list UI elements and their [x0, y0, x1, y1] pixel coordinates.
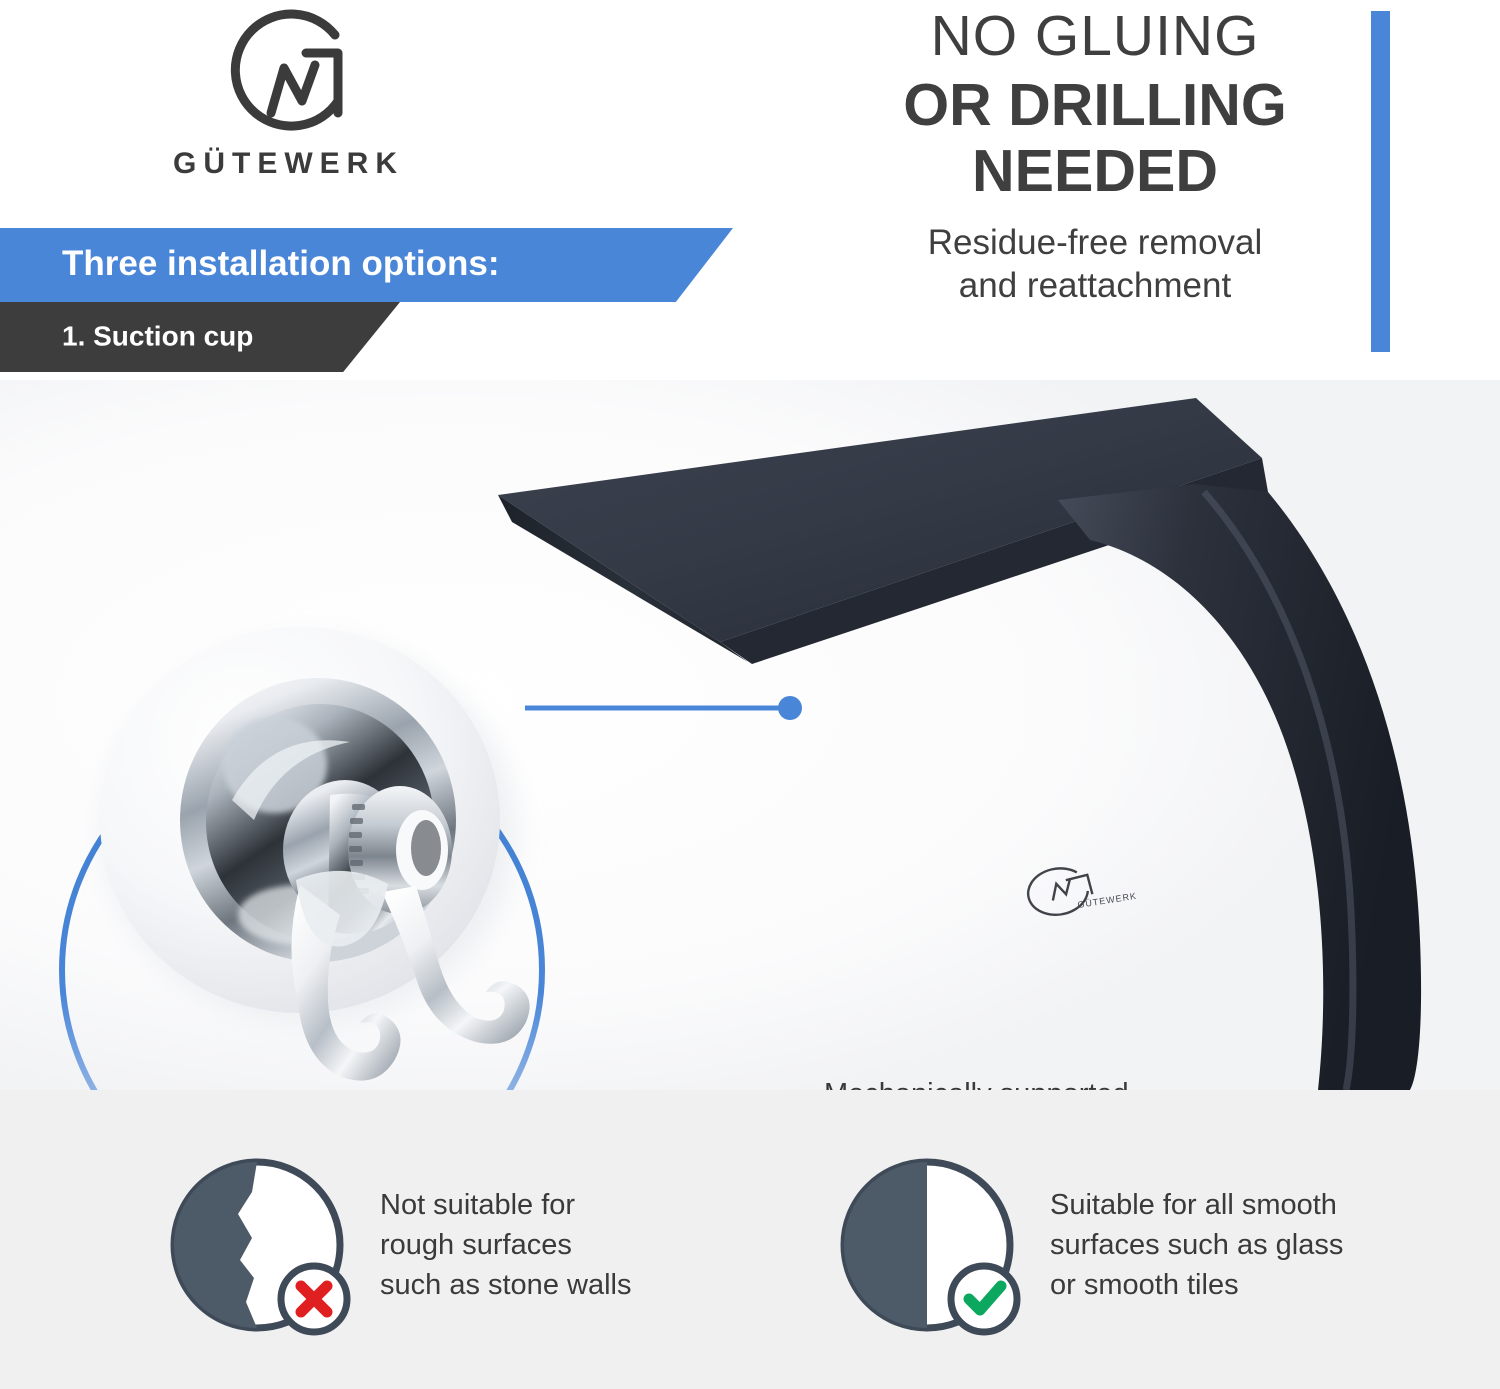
surface-item-smooth: Suitable for all smooth surfaces such as… [838, 1152, 1343, 1338]
smooth-surface-text: Suitable for all smooth surfaces such as… [1050, 1185, 1343, 1305]
product-illustration: GÜTEWERK [0, 380, 1500, 1090]
collar-hole [411, 820, 441, 876]
smooth-surface-line-1: Suitable for all smooth [1050, 1185, 1343, 1225]
installation-options-label: Three installation options: [62, 244, 500, 284]
surface-compatibility-section: Not suitable for rough surfaces such as … [0, 1090, 1500, 1389]
header-section: GÜTEWERK Three installation options: 1. … [0, 0, 1500, 380]
headline-line-3: NEEDED [840, 138, 1350, 204]
guetewerk-g-w-monogram-icon [210, 8, 360, 143]
smooth-surface-line-2: surfaces such as glass [1050, 1225, 1343, 1265]
rough-surface-text: Not suitable for rough surfaces such as … [380, 1185, 631, 1305]
rough-surface-line-1: Not suitable for [380, 1185, 631, 1225]
product-infographic: GÜTEWERK Three installation options: 1. … [0, 0, 1500, 1389]
subheadline-line-2: and reattachment [840, 264, 1350, 307]
smooth-surface-line-3: or smooth tiles [1050, 1265, 1343, 1305]
rough-surface-line-2: rough surfaces [380, 1225, 631, 1265]
header-accent-bar [1371, 11, 1390, 352]
suction-cup-step-banner: 1. Suction cup [0, 302, 400, 372]
rough-surface-line-3: such as stone walls [380, 1265, 631, 1305]
brand-name: GÜTEWERK [150, 147, 420, 181]
brand-lockup: GÜTEWERK [150, 8, 420, 181]
callout-line-1: Mechanically supported [824, 1075, 1224, 1090]
headline-block: NO GLUING OR DRILLING NEEDED Residue-fre… [840, 0, 1350, 307]
subheadline-line-1: Residue-free removal [840, 221, 1350, 264]
vacuum-holder-callout: Mechanically supported vacuum holder ens… [824, 1075, 1224, 1090]
headline-line-1: NO GLUING [840, 6, 1350, 66]
headline-line-2: OR DRILLING [840, 72, 1350, 138]
suction-cup-step-label: 1. Suction cup [62, 320, 253, 352]
product-photo-section: GÜTEWERK Mechanically supported vacuum h… [0, 380, 1500, 1090]
rough-surface-fill [174, 1162, 257, 1328]
smooth-surface-circle-icon [838, 1152, 1028, 1338]
rough-surface-circle-icon [168, 1152, 358, 1338]
smooth-surface-fill [844, 1162, 927, 1328]
installation-options-banner: Three installation options: [0, 228, 733, 302]
surface-item-rough: Not suitable for rough surfaces such as … [168, 1152, 631, 1338]
